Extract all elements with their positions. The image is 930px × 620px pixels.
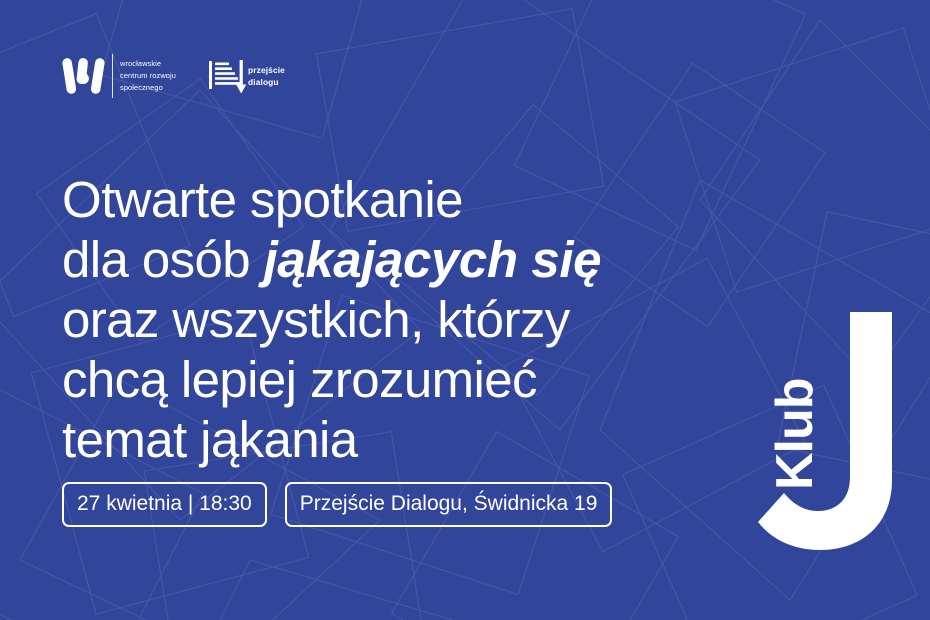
logo-divider <box>112 54 113 98</box>
wcrs-line-3: społecznego <box>120 82 176 94</box>
headline-line-2-text: dla osób <box>62 231 264 288</box>
przejscie-dialogu-logo[interactable]: przejście dialogu <box>208 55 285 97</box>
poster-headline: Otwarte spotkanie dla osób jąkających si… <box>62 170 601 470</box>
przejscie-dialogu-crosswalk-icon <box>208 55 248 97</box>
headline-line-5: temat jąkania <box>62 410 601 470</box>
headline-line-5-text: temat jąkania <box>62 411 358 468</box>
headline-line-1: Otwarte spotkanie <box>62 170 601 230</box>
poster-badges: 27 kwietnia | 18:30 Przejście Dialogu, Ś… <box>62 482 612 527</box>
headline-emphasis: jąkających się <box>264 231 602 288</box>
wcrs-logo-wordmark: wrocławskie centrum rozwoju społecznego <box>120 58 176 94</box>
wcrs-line-2: centrum rozwoju <box>120 70 176 82</box>
headline-line-4-text: chcą lepiej zrozumieć <box>62 351 537 408</box>
wroclawskie-centrum-rozwoju-spolecznego-logo[interactable]: wrocławskie centrum rozwoju społecznego <box>62 54 176 98</box>
headline-line-3-text: oraz wszystkich, którzy <box>62 291 570 348</box>
wcrs-line-1: wrocławskie <box>120 58 176 70</box>
headline-line-1-text: Otwarte spotkanie <box>62 171 463 228</box>
date-time-badge: 27 kwietnia | 18:30 <box>62 482 267 527</box>
headline-line-4: chcą lepiej zrozumieć <box>62 350 601 410</box>
headline-line-2: dla osób jąkających się <box>62 230 601 290</box>
header-logos: wrocławskie centrum rozwoju społecznego <box>62 54 285 98</box>
klub-wordmark: Klub <box>766 378 824 490</box>
przejscie-line-1: przejście <box>248 64 285 76</box>
przejscie-line-2: dialogu <box>248 76 285 88</box>
event-poster: wrocławskie centrum rozwoju społecznego <box>0 0 930 620</box>
wcrs-w-mark-icon <box>62 54 106 98</box>
przejscie-dialogu-wordmark: przejście dialogu <box>248 64 285 88</box>
headline-line-3: oraz wszystkich, którzy <box>62 290 601 350</box>
venue-badge: Przejście Dialogu, Świdnicka 19 <box>285 482 613 527</box>
klub-j-logo[interactable]: Klub <box>740 300 930 560</box>
